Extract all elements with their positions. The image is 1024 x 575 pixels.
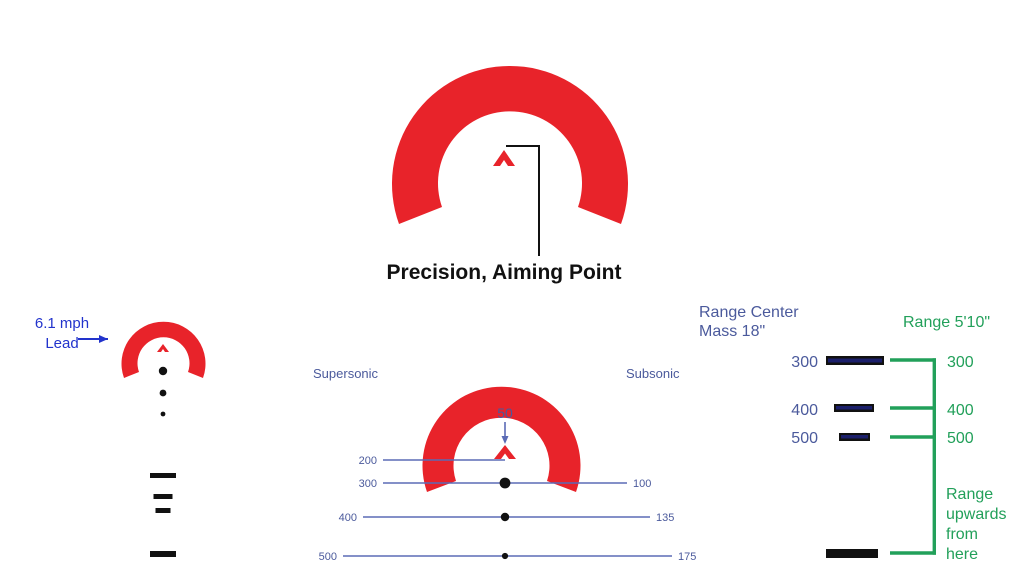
lead-label-line2: Lead xyxy=(45,335,78,352)
lead-dash-4 xyxy=(150,551,176,557)
lead-dash-1 xyxy=(150,473,176,478)
page-title: Precision, Aiming Point xyxy=(387,261,622,284)
lead-dot-1 xyxy=(159,367,167,375)
ballistic-right-label-175: 175 xyxy=(678,551,696,563)
lead-dot-3 xyxy=(161,412,166,417)
range-note-line-4: here xyxy=(946,546,978,563)
range-left-label-400: 400 xyxy=(791,402,818,419)
range-center-mass-header-line2: Mass 18" xyxy=(699,323,765,340)
ballistic-dot-500 xyxy=(502,553,508,559)
range-bottom-bar xyxy=(826,549,878,558)
aim-callout-label: 50 xyxy=(497,405,513,421)
lead-label-line1: 6.1 mph xyxy=(35,315,89,332)
ballistic-left-label-300: 300 xyxy=(359,478,377,490)
lead-dash-3 xyxy=(156,508,171,513)
ballistic-dot-400 xyxy=(501,513,509,521)
range-note-line-3: from xyxy=(946,526,978,543)
subsonic-label: Subsonic xyxy=(626,366,680,381)
range-right-label-300: 300 xyxy=(947,354,974,371)
ballistic-left-label-500: 500 xyxy=(319,551,337,563)
range-note-line-1: Range xyxy=(946,486,993,503)
range-right-label-400: 400 xyxy=(947,402,974,419)
range-left-label-500: 500 xyxy=(791,430,818,447)
supersonic-label: Supersonic xyxy=(313,366,379,381)
lead-dot-2 xyxy=(160,390,167,397)
range-left-label-300: 300 xyxy=(791,354,818,371)
range-center-mass-header-line1: Range Center xyxy=(699,304,799,321)
ballistic-right-label-135: 135 xyxy=(656,512,674,524)
ballistic-left-label-400: 400 xyxy=(339,512,357,524)
lead-dash-2 xyxy=(154,494,173,499)
range-bar-400 xyxy=(834,404,874,412)
reticle-diagram: Precision, Aiming Point 6.1 mph Lead Sup… xyxy=(0,0,1024,575)
range-note-line-2: upwards xyxy=(946,506,1006,523)
ballistic-right-label-100: 100 xyxy=(633,478,651,490)
ballistic-left-label-200: 200 xyxy=(359,455,377,467)
range-right-label-500: 500 xyxy=(947,430,974,447)
range-bar-300 xyxy=(826,356,884,365)
range-bar-500 xyxy=(839,433,870,441)
range-height-header: Range 5'10" xyxy=(903,314,990,331)
ballistic-dot-300 xyxy=(500,478,511,489)
